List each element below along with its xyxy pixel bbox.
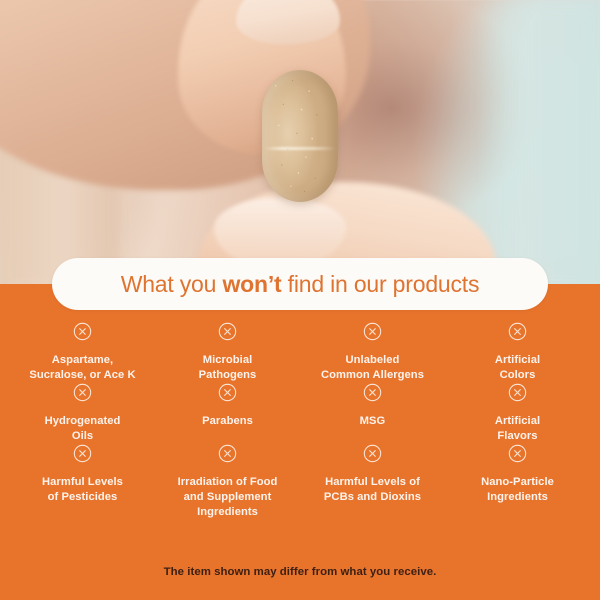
- claim-item: ArtificialColors: [445, 322, 590, 383]
- disclaimer-text: The item shown may differ from what you …: [0, 566, 600, 578]
- claim-item: Parabens: [155, 383, 300, 444]
- claim-item-label: Irradiation of Foodand SupplementIngredi…: [178, 475, 278, 520]
- claim-item-label: Parabens: [202, 414, 253, 429]
- headline-text: What you won’t find in our products: [121, 271, 480, 298]
- claim-item-label: ArtificialColors: [495, 353, 540, 383]
- claim-item: MicrobialPathogens: [155, 322, 300, 383]
- circle-x-icon: [218, 322, 237, 341]
- circle-x-icon: [73, 444, 92, 463]
- circle-x-icon: [73, 322, 92, 341]
- claim-item: Aspartame,Sucralose, or Ace K: [10, 322, 155, 383]
- circle-x-icon: [218, 383, 237, 402]
- tablet-highlight-seam: [264, 147, 336, 150]
- claim-item: Harmful Levelsof Pesticides: [10, 444, 155, 520]
- circle-x-icon: [363, 383, 382, 402]
- circle-x-icon: [218, 444, 237, 463]
- photo-right-blur-band: [480, 0, 600, 290]
- circle-x-icon: [363, 444, 382, 463]
- product-photo: [0, 0, 600, 290]
- circle-x-icon: [508, 444, 527, 463]
- circle-x-icon: [508, 322, 527, 341]
- headline-text-before: What you: [121, 271, 223, 297]
- claim-item-label: MicrobialPathogens: [199, 353, 257, 383]
- tablet-speckle-texture: [262, 70, 338, 202]
- claim-item-label: Harmful Levelsof Pesticides: [42, 475, 123, 505]
- claim-item-label: Nano-ParticleIngredients: [481, 475, 554, 505]
- claim-item-label: HydrogenatedOils: [45, 414, 121, 444]
- circle-x-icon: [508, 383, 527, 402]
- claim-item: HydrogenatedOils: [10, 383, 155, 444]
- headline-text-after: find in our products: [281, 271, 479, 297]
- headline-emphasis: won’t: [222, 271, 281, 297]
- supplement-tablet: [262, 70, 338, 202]
- claim-item: Nano-ParticleIngredients: [445, 444, 590, 520]
- headline-banner: What you won’t find in our products: [52, 258, 548, 310]
- claims-grid: Aspartame,Sucralose, or Ace K MicrobialP…: [10, 322, 590, 520]
- thumbnail-top-shape: [236, 0, 340, 44]
- claim-item-label: ArtificialFlavors: [495, 414, 540, 444]
- claim-item: UnlabeledCommon Allergens: [300, 322, 445, 383]
- claim-item: MSG: [300, 383, 445, 444]
- circle-x-icon: [73, 383, 92, 402]
- claim-item-label: Aspartame,Sucralose, or Ace K: [29, 353, 135, 383]
- claim-item-label: Harmful Levels ofPCBs and Dioxins: [324, 475, 421, 505]
- claim-item: Harmful Levels ofPCBs and Dioxins: [300, 444, 445, 520]
- claim-item-label: MSG: [360, 414, 386, 429]
- circle-x-icon: [363, 322, 382, 341]
- claim-item: ArtificialFlavors: [445, 383, 590, 444]
- product-claims-poster: What you won’t find in our products Aspa…: [0, 0, 600, 600]
- claim-item: Irradiation of Foodand SupplementIngredi…: [155, 444, 300, 520]
- claim-item-label: UnlabeledCommon Allergens: [321, 353, 424, 383]
